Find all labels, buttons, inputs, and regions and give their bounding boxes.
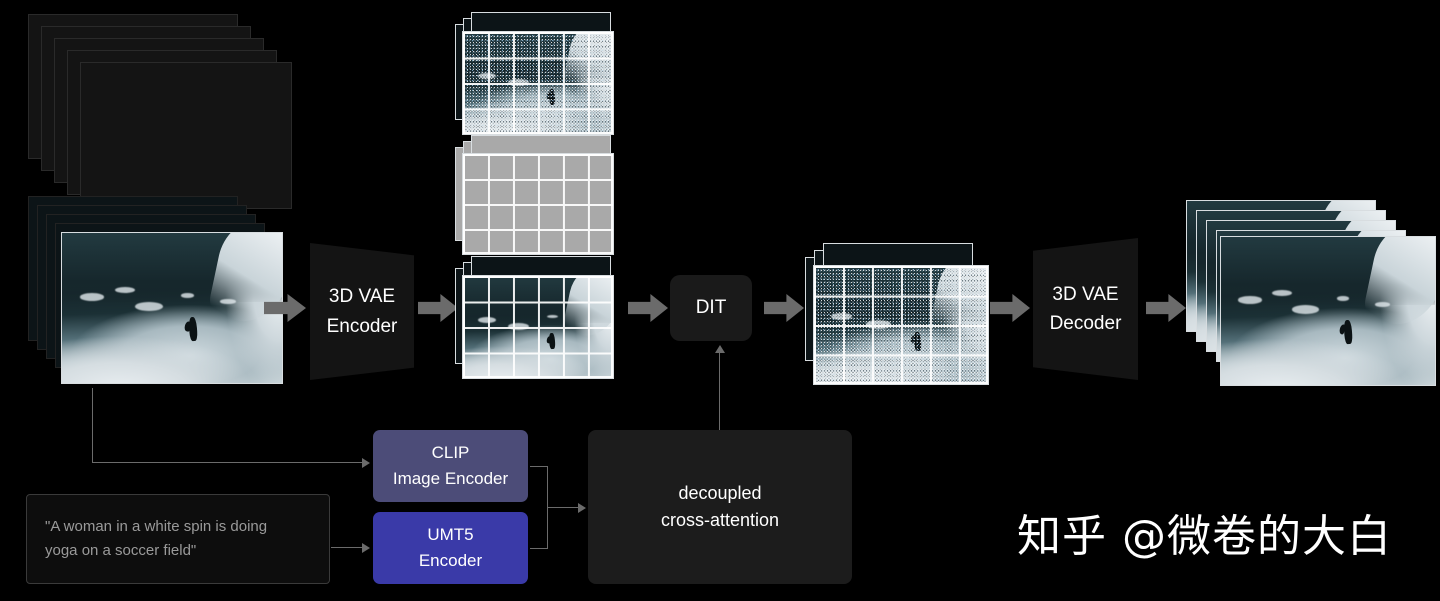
connector-merge-to-xattn bbox=[547, 507, 579, 508]
frame-front bbox=[462, 31, 614, 135]
connector-video-to-clip-horizontal bbox=[92, 462, 362, 463]
connector-video-to-clip-vertical bbox=[92, 388, 93, 463]
prompt-textbox[interactable]: "A woman in a white spin is doing yoga o… bbox=[26, 494, 330, 584]
ice-photo bbox=[1221, 237, 1435, 385]
ice-photo bbox=[62, 233, 282, 383]
vae-decoder-block: 3D VAE Decoder bbox=[1033, 238, 1138, 380]
frame-front bbox=[462, 275, 614, 379]
arrow-dit-to-denoised bbox=[764, 294, 804, 322]
prompt-line1: "A woman in a white spin is doing bbox=[45, 515, 267, 539]
watermark: 知乎 @微卷的大白 bbox=[1017, 500, 1392, 564]
ice-photo bbox=[463, 32, 613, 134]
frame bbox=[80, 62, 292, 209]
clip-image-encoder-block: CLIP Image Encoder bbox=[373, 430, 528, 502]
connector-clip-out bbox=[530, 466, 548, 467]
ice-photo bbox=[814, 266, 988, 384]
prompt-line2: yoga on a soccer field" bbox=[45, 539, 196, 563]
vae-decoder-line1: 3D VAE bbox=[1052, 280, 1118, 309]
arrow-vae-encoder-to-latents bbox=[418, 294, 458, 322]
clip-encoder-line1: CLIP bbox=[432, 440, 470, 466]
connector-prompt-to-umt5 bbox=[331, 547, 363, 548]
vae-encoder-line1: 3D VAE bbox=[329, 282, 395, 311]
cross-attention-line2: cross-attention bbox=[661, 507, 779, 534]
connector-umt5-out bbox=[530, 548, 548, 549]
vae-decoder-line2: Decoder bbox=[1050, 309, 1122, 338]
arrow-latents-to-dit bbox=[628, 294, 668, 322]
umt5-encoder-line1: UMT5 bbox=[427, 522, 473, 548]
stack-input-video-frames bbox=[28, 196, 286, 386]
stack-input-mask-frames bbox=[28, 14, 286, 204]
stack-noisy-latent bbox=[455, 6, 625, 131]
diagram-canvas: 3D VAE Encoder bbox=[0, 0, 1440, 601]
stack-mask-latent bbox=[455, 131, 625, 253]
cross-attention-line1: decoupled bbox=[678, 480, 761, 507]
stack-denoised-latent bbox=[805, 235, 1005, 390]
umt5-encoder-block: UMT5 Encoder bbox=[373, 512, 528, 584]
vae-encoder-block: 3D VAE Encoder bbox=[310, 243, 414, 380]
stack-clean-latent bbox=[455, 248, 625, 378]
clip-encoder-line2: Image Encoder bbox=[393, 466, 508, 492]
mask-grid bbox=[463, 154, 613, 254]
arrowhead-to-clip bbox=[362, 458, 370, 468]
cross-attention-block: decoupled cross-attention bbox=[588, 430, 852, 584]
vae-encoder-line2: Encoder bbox=[327, 312, 398, 341]
arrowhead-to-dit bbox=[715, 345, 725, 353]
dit-label: DIT bbox=[696, 297, 727, 319]
ice-photo bbox=[463, 276, 613, 378]
arrowhead-to-umt5 bbox=[362, 543, 370, 553]
arrow-vae-decoder-to-output bbox=[1146, 294, 1186, 322]
frame-front bbox=[61, 232, 283, 384]
arrowhead-to-cross-attention bbox=[578, 503, 586, 513]
stack-output-video-frames bbox=[1186, 190, 1436, 390]
frame-front bbox=[462, 153, 614, 255]
dit-block: DIT bbox=[670, 275, 752, 341]
umt5-encoder-line2: Encoder bbox=[419, 548, 482, 574]
frame-front bbox=[813, 265, 989, 385]
frame-front bbox=[1220, 236, 1436, 386]
connector-xattn-to-dit bbox=[719, 352, 720, 430]
